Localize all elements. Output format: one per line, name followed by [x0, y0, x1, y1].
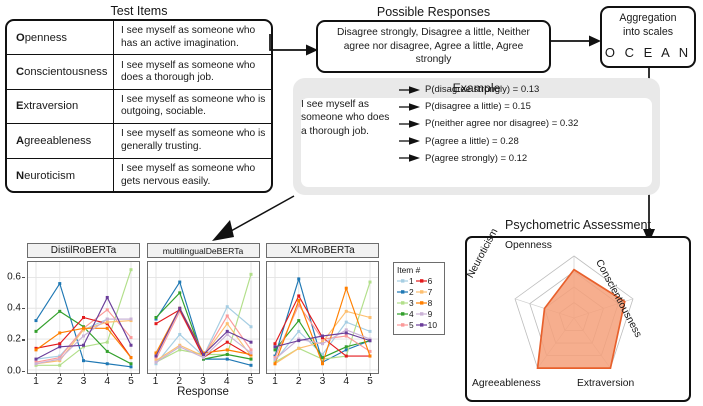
arrow-right-icon	[399, 153, 421, 163]
legend-marker	[397, 321, 408, 329]
trait-item-text: I see myself as someone who gets nervous…	[114, 159, 271, 193]
legend-marker	[416, 277, 427, 285]
trait-name: Openness	[7, 21, 114, 54]
aggregation-line-1: Aggregation	[619, 12, 676, 26]
legend-entry-7[interactable]: 7	[416, 287, 437, 298]
psychometric-title: Psychometric Assessment	[465, 218, 691, 232]
arrow-right-icon	[399, 102, 421, 112]
legend-marker	[397, 310, 408, 318]
legend-marker	[416, 321, 427, 329]
facet-strip-label: DistilRoBERTa	[27, 243, 140, 258]
chart-legend: Item # 12345678910	[393, 262, 445, 335]
trait-item-text: I see myself as someone who does a thoro…	[114, 55, 271, 88]
probability-label: P(agree a little) = 0.28	[425, 136, 519, 147]
legend-label: 2	[409, 287, 414, 297]
facet-plot-area	[266, 261, 379, 374]
probability-row: P(agree strongly) = 0.12	[399, 150, 642, 167]
arrow-right-icon	[399, 136, 421, 146]
possible-responses-box: Disagree strongly, Disagree a little, Ne…	[316, 20, 551, 73]
legend-label: 4	[409, 309, 414, 319]
test-items-table: OpennessI see myself as someone who has …	[5, 19, 273, 193]
trait-name: Neuroticism	[7, 159, 114, 193]
test-item-row: AgreeablenessI see myself as someone who…	[7, 124, 271, 158]
arrow-example-to-charts	[196, 194, 298, 244]
y-tick-label: 0.6	[7, 271, 21, 282]
probability-row: P(agree a little) = 0.28	[399, 133, 642, 150]
facet-strip-label: multilingualDeBERTa	[147, 243, 260, 258]
arrow-right-icon	[399, 119, 421, 129]
legend-column: 678910	[416, 276, 437, 331]
possible-responses-title: Possible Responses	[316, 5, 551, 19]
probability-list: P(disagree strongly) = 0.13P(disagree a …	[399, 81, 642, 167]
probability-label: P(agree strongly) = 0.12	[425, 153, 527, 164]
probability-row: P(disagree a little) = 0.15	[399, 98, 642, 115]
y-tick-mark	[22, 277, 25, 278]
legend-label: 9	[428, 309, 433, 319]
legend-marker	[397, 277, 408, 285]
arrow-right-icon	[399, 85, 421, 95]
legend-entry-2[interactable]: 2	[397, 287, 414, 298]
facet-strip-label: XLMRoBERTa	[266, 243, 379, 258]
test-item-row: NeuroticismI see myself as someone who g…	[7, 159, 271, 193]
legend-entry-4[interactable]: 4	[397, 309, 414, 320]
facet-plot-area	[27, 261, 140, 374]
legend-label: 6	[428, 276, 433, 286]
y-tick-label: 0.0	[7, 365, 21, 376]
aggregation-line-2: into scales	[623, 26, 673, 40]
y-tick-label: 0.4	[7, 303, 21, 314]
arrow-responses-to-aggregation	[549, 32, 603, 50]
model-score-facet-chart: Model Score 0.00.20.40.6 DistilRoBERTa12…	[27, 243, 379, 375]
radar-axis-label-openness: Openness	[505, 240, 552, 251]
radar-axis-label-extraversion: Extraversion	[577, 378, 634, 389]
legend-entry-10[interactable]: 10	[416, 320, 437, 331]
legend-label: 5	[409, 320, 414, 330]
y-tick-mark	[22, 339, 25, 340]
legend-marker	[416, 288, 427, 296]
x-axis-title: Response	[27, 386, 379, 398]
ocean-label: O C E A N	[605, 45, 691, 62]
radar-axis-label-agreeableness: Agreeableness	[472, 378, 541, 389]
probability-row: P(neither agree nor disagree) = 0.32	[399, 115, 642, 132]
y-tick-label: 0.2	[7, 334, 21, 345]
test-item-row: OpennessI see myself as someone who has …	[7, 21, 271, 55]
legend-entry-1[interactable]: 1	[397, 276, 414, 287]
test-item-row: ExtraversionI see myself as someone who …	[7, 90, 271, 124]
legend-label: 3	[409, 298, 414, 308]
arrow-items-to-responses	[268, 32, 320, 60]
trait-name: Conscientousness	[7, 55, 114, 88]
possible-responses-text: Disagree strongly, Disagree a little, Ne…	[325, 26, 542, 67]
legend-marker	[416, 310, 427, 318]
legend-entry-8[interactable]: 8	[416, 298, 437, 309]
legend-label: 8	[428, 298, 433, 308]
facet-plot-area	[147, 261, 260, 374]
legend-label: 10	[428, 320, 437, 330]
trait-name: Agreeableness	[7, 124, 114, 157]
facet-DistilRoBERTa: DistilRoBERTa12345	[27, 243, 140, 375]
aggregation-box: Aggregation into scales O C E A N	[600, 6, 696, 68]
example-stem-text: I see myself as someone who does a thoro…	[301, 98, 393, 138]
facet-multilingualDeBERTa: multilingualDeBERTa12345	[147, 243, 260, 375]
trait-name: Extraversion	[7, 90, 114, 123]
y-axis-labels: 0.00.20.40.6	[0, 261, 25, 374]
test-items-title: Test Items	[5, 4, 273, 18]
legend-column: 12345	[397, 276, 414, 331]
legend-label: 1	[409, 276, 414, 286]
legend-marker	[416, 299, 427, 307]
legend-entry-3[interactable]: 3	[397, 298, 414, 309]
probability-label: P(disagree strongly) = 0.13	[425, 84, 539, 95]
legend-entry-6[interactable]: 6	[416, 276, 437, 287]
trait-item-text: I see myself as someone who is generally…	[114, 124, 271, 157]
probability-label: P(disagree a little) = 0.15	[425, 101, 531, 112]
facet-XLMRoBERTa: XLMRoBERTa12345	[266, 243, 379, 375]
example-panel: Example I see myself as someone who does…	[293, 78, 660, 195]
legend-entry-5[interactable]: 5	[397, 320, 414, 331]
trait-item-text: I see myself as someone who has an activ…	[114, 21, 271, 54]
legend-marker	[397, 288, 408, 296]
legend-entry-9[interactable]: 9	[416, 309, 437, 320]
legend-title: Item #	[397, 265, 441, 275]
legend-entries: 12345678910	[397, 276, 441, 331]
trait-item-text: I see myself as someone who is outgoing,…	[114, 90, 271, 123]
y-tick-mark	[22, 308, 25, 309]
probability-row: P(disagree strongly) = 0.13	[399, 81, 642, 98]
test-item-row: ConscientousnessI see myself as someone …	[7, 55, 271, 89]
legend-marker	[397, 299, 408, 307]
legend-label: 7	[428, 287, 433, 297]
probability-label: P(neither agree nor disagree) = 0.32	[425, 118, 578, 129]
y-tick-mark	[22, 371, 25, 372]
